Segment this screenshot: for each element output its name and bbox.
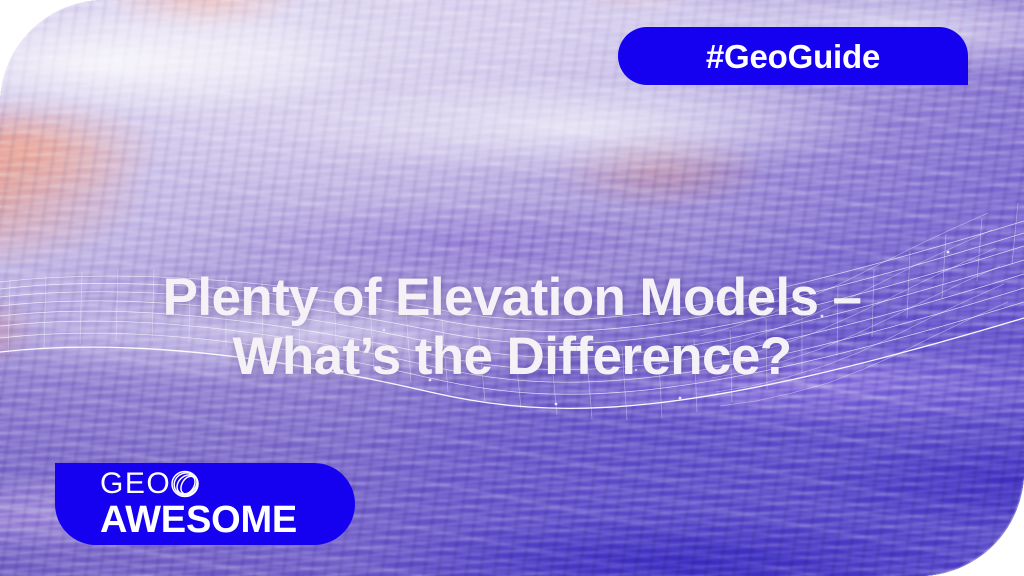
logo-geo-row: GEO xyxy=(100,469,355,499)
geoguide-tag-label: #GeoGuide xyxy=(706,40,880,73)
logo-geo-label: GEO xyxy=(100,469,171,499)
logo-awesome-label: AWESOME xyxy=(100,501,355,539)
geoguide-tag-badge[interactable]: #GeoGuide xyxy=(618,27,968,85)
page-title: Plenty of Elevation Models – What’s the … xyxy=(0,268,1024,387)
page-title-line-1: Plenty of Elevation Models – xyxy=(0,268,1024,327)
geoawesome-article-banner: #GeoGuide Plenty of Elevation Models – W… xyxy=(0,0,1024,576)
geo-swirl-globe-icon xyxy=(169,468,203,500)
geoawesome-logo-badge[interactable]: GEO AWESOME xyxy=(55,463,355,545)
page-title-line-2: What’s the Difference? xyxy=(0,327,1024,386)
